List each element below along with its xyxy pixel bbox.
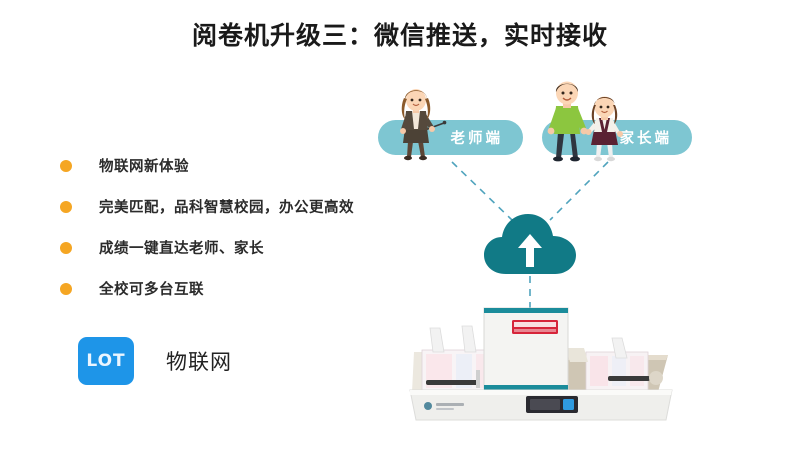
iot-badge-block: LOT 物联网 [78, 337, 232, 385]
list-item: 成绩一键直达老师、家长 [60, 227, 400, 268]
bullet-text: 全校可多台互联 [99, 278, 204, 299]
parent-and-child-person-icon [540, 80, 635, 162]
bullet-dot-icon [60, 283, 72, 295]
machine-blue-button [563, 399, 574, 410]
bullet-text: 成绩一键直达老师、家长 [99, 237, 264, 258]
bullet-dot-icon [60, 160, 72, 172]
bullet-dot-icon [60, 242, 72, 254]
bullet-dot-icon [60, 201, 72, 213]
list-item: 全校可多台互联 [60, 268, 400, 309]
slide-canvas: 阅卷机升级三：微信推送，实时接收 物联网新体验 完美匹配，品科智慧校园，办公更高… [0, 0, 800, 462]
cloud-upload-icon[interactable] [482, 210, 578, 276]
list-item: 物联网新体验 [60, 145, 400, 186]
node-teacher-label: 老师端 [451, 127, 524, 148]
architecture-diagram: 老师端 家长端 [360, 70, 780, 440]
bullet-text: 完美匹配，品科智慧校园，办公更高效 [99, 196, 354, 217]
bullet-text: 物联网新体验 [99, 155, 189, 176]
bullet-list: 物联网新体验 完美匹配，品科智慧校园，办公更高效 成绩一键直达老师、家长 全校可… [60, 145, 400, 309]
page-title: 阅卷机升级三：微信推送，实时接收 [0, 16, 800, 52]
iot-label: 物联网 [166, 346, 232, 376]
iot-badge: LOT [78, 337, 134, 385]
exam-marking-machine-icon [400, 300, 700, 435]
teacher-person-icon [382, 85, 450, 161]
list-item: 完美匹配，品科智慧校园，办公更高效 [60, 186, 400, 227]
